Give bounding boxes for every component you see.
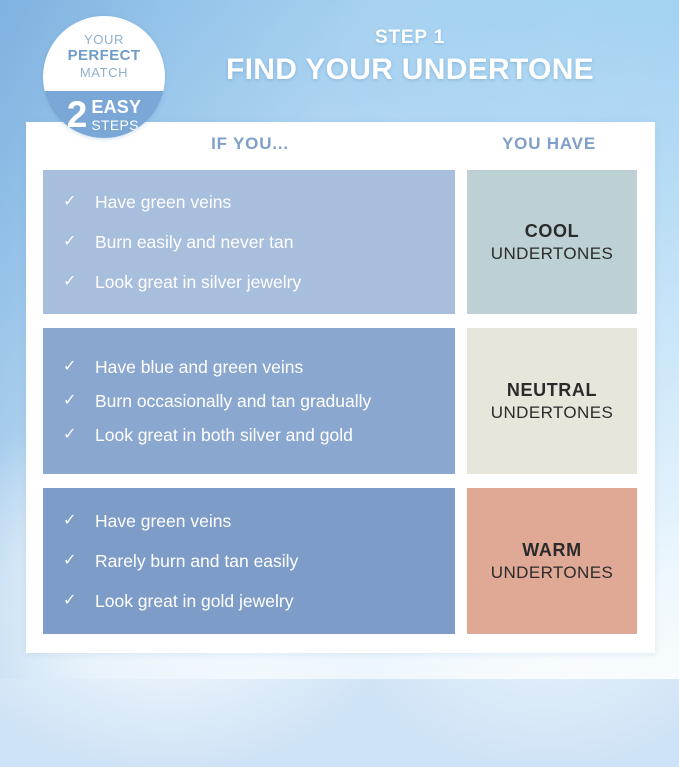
- badge-step-words: EASY STEPS: [91, 98, 141, 133]
- check-icon: ✓: [63, 422, 95, 448]
- list-item: ✓ Burn occasionally and tan gradually: [63, 388, 455, 414]
- undertone-swatch-cool: COOL UNDERTONES: [467, 170, 637, 314]
- page-title: FIND YOUR UNDERTONE: [175, 52, 645, 88]
- check-icon: ✓: [63, 388, 95, 414]
- undertone-name: WARM: [522, 539, 581, 562]
- check-icon: ✓: [63, 269, 95, 295]
- list-item-label: Rarely burn and tan easily: [95, 548, 455, 574]
- undertone-sublabel: UNDERTONES: [491, 562, 613, 584]
- check-icon: ✓: [63, 548, 95, 574]
- list-item: ✓ Look great in silver jewelry: [63, 269, 455, 295]
- badge-step-count: 2: [67, 96, 88, 133]
- list-item-label: Burn occasionally and tan gradually: [95, 388, 455, 414]
- list-item-label: Have blue and green veins: [95, 354, 455, 380]
- undertone-swatch-warm: WARM UNDERTONES: [467, 488, 637, 634]
- undertone-name: NEUTRAL: [507, 379, 597, 402]
- badge-word-easy: EASY: [91, 98, 141, 117]
- criteria-row-cool: ✓ Have green veins ✓ Burn easily and nev…: [43, 170, 455, 314]
- check-icon: ✓: [63, 508, 95, 534]
- list-item-label: Burn easily and never tan: [95, 229, 455, 255]
- check-icon: ✓: [63, 588, 95, 614]
- list-item: ✓ Look great in gold jewelry: [63, 588, 455, 614]
- criteria-row-warm: ✓ Have green veins ✓ Rarely burn and tan…: [43, 488, 455, 634]
- badge-top-half: YOUR PERFECT MATCH: [43, 16, 165, 91]
- badge-line-your: YOUR: [84, 32, 124, 47]
- list-item-label: Look great in gold jewelry: [95, 588, 455, 614]
- list-item: ✓ Look great in both silver and gold: [63, 422, 455, 448]
- undertone-name: COOL: [525, 220, 579, 243]
- list-item: ✓ Rarely burn and tan easily: [63, 548, 455, 574]
- undertone-sublabel: UNDERTONES: [491, 402, 613, 424]
- undertone-sublabel: UNDERTONES: [491, 243, 613, 265]
- list-item: ✓ Have green veins: [63, 189, 455, 215]
- list-item: ✓ Have green veins: [63, 508, 455, 534]
- list-item-label: Look great in both silver and gold: [95, 422, 455, 448]
- undertone-swatch-neutral: NEUTRAL UNDERTONES: [467, 328, 637, 474]
- badge-word-steps: STEPS: [91, 117, 138, 133]
- check-icon: ✓: [63, 354, 95, 380]
- perfect-match-badge: YOUR PERFECT MATCH 2 EASY STEPS: [43, 16, 165, 138]
- list-item: ✓ Burn easily and never tan: [63, 229, 455, 255]
- header: STEP 1 FIND YOUR UNDERTONE: [175, 26, 645, 88]
- list-item-label: Have green veins: [95, 189, 455, 215]
- step-label: STEP 1: [175, 26, 645, 50]
- check-icon: ✓: [63, 189, 95, 215]
- badge-line-match: MATCH: [80, 65, 128, 80]
- list-item: ✓ Have blue and green veins: [63, 354, 455, 380]
- criteria-row-neutral: ✓ Have blue and green veins ✓ Burn occas…: [43, 328, 455, 474]
- check-icon: ✓: [63, 229, 95, 255]
- column-header-you-have: YOU HAVE: [460, 134, 638, 154]
- badge-bottom-half: 2 EASY STEPS: [43, 91, 165, 138]
- column-headers: IF YOU... YOU HAVE: [26, 134, 655, 166]
- badge-line-perfect: PERFECT: [68, 47, 141, 65]
- list-item-label: Look great in silver jewelry: [95, 269, 455, 295]
- list-item-label: Have green veins: [95, 508, 455, 534]
